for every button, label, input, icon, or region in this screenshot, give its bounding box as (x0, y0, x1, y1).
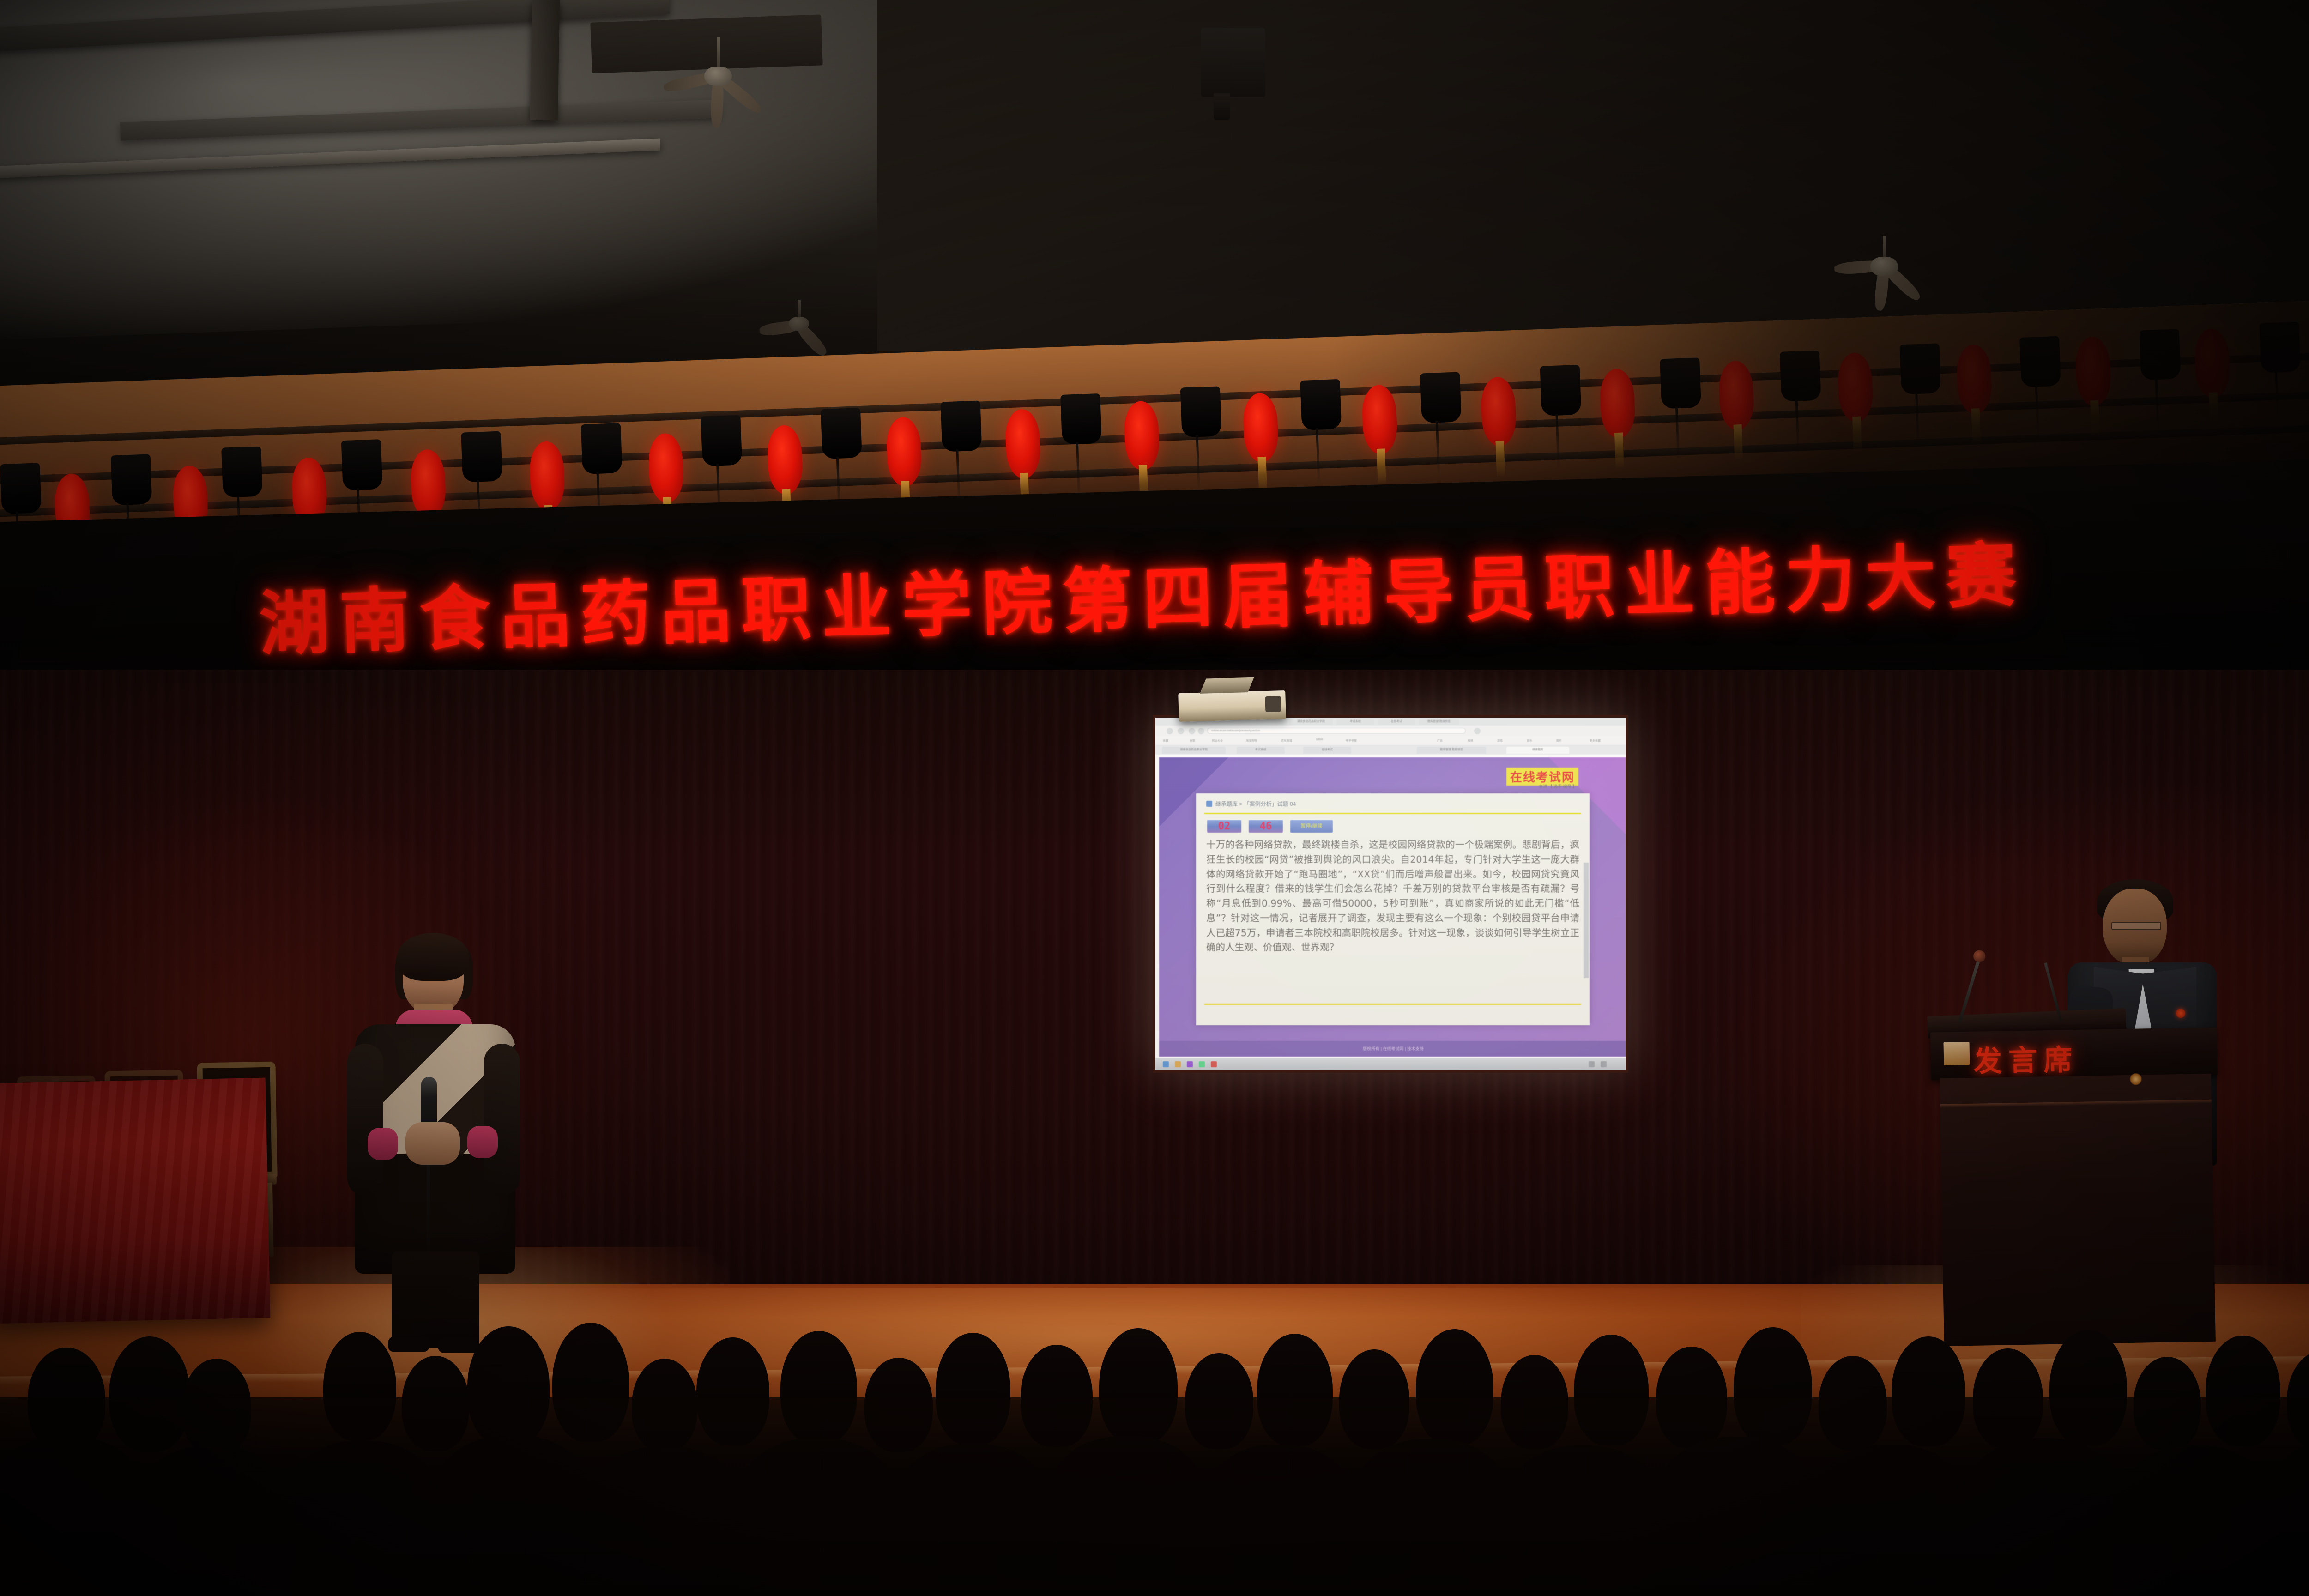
browser-tab[interactable]: 题库管理 题目预览 (1419, 719, 1459, 725)
browser-window: 湖南食品药品职业学院 考试系统 在线考试 题库管理 题目预览 online-ex… (1155, 718, 1626, 1070)
app-icon[interactable] (1211, 1061, 1217, 1067)
home-icon[interactable] (1198, 728, 1204, 734)
audience: ONIX ONIX (0, 1288, 2309, 1596)
page-tab[interactable]: 考试系统 (1237, 747, 1285, 754)
presenter-hands (405, 1122, 460, 1165)
slide-footer: 版权所有 | 在线考试网 | 技术支持 (1159, 1041, 1626, 1057)
breadcrumb: 继承题库 > 「案例分析」试题 04 (1206, 800, 1296, 808)
bookmark-item[interactable]: 淘宝购物 (1246, 738, 1257, 743)
glasses-icon (2111, 922, 2161, 930)
app-icon[interactable] (1199, 1061, 1205, 1067)
bookmark-item[interactable]: bilibili (1316, 738, 1323, 743)
ceiling-duct (590, 14, 823, 73)
bookmark-item[interactable]: 京东商城 (1281, 738, 1292, 743)
slide-footer-text: 版权所有 | 在线考试网 | 技术支持 (1159, 1041, 1626, 1057)
page-tab[interactable]: 在线考试 (1303, 747, 1351, 754)
bookmark-item[interactable]: 收藏 (1163, 738, 1168, 743)
timer-minutes: 02 (1207, 820, 1241, 833)
taskbar (1155, 1058, 1626, 1070)
countdown-timer: 0246暂停/继续 (1207, 820, 1333, 833)
question-text: 十万的各种网络贷款，最终跳楼自杀，这是校园网络贷款的一个极端案例。悲剧背后，疯狂… (1206, 838, 1579, 1001)
reload-icon[interactable] (1189, 728, 1195, 734)
podium-sign-text: 发言席 (1973, 1036, 2079, 1080)
bookmark-item[interactable]: 视频 (1468, 738, 1473, 743)
red-lantern (1242, 393, 1279, 463)
forward-icon[interactable] (1178, 728, 1184, 734)
bookmark-item[interactable]: 电子书屋 (1346, 738, 1357, 743)
red-lantern (1124, 400, 1160, 471)
tray-icon[interactable] (1589, 1061, 1595, 1067)
search-icon[interactable] (1474, 728, 1481, 734)
exam-slide: 在线考试网 主讲 【 选手 编号 】 继承题库 > 「案例分析」试题 04 02… (1159, 757, 1626, 1057)
bookmark-item[interactable]: 图片 (1556, 738, 1562, 743)
ceiling-beam-vertical (530, 0, 560, 121)
auditorium-scene: 湖南食品药品职业学院第四届辅导员职业能力大赛 湖南食品药品职业学院 考试系统 在… (0, 0, 2309, 1596)
scrollbar[interactable] (1584, 863, 1589, 978)
projector (1178, 690, 1286, 722)
page-tab-active[interactable]: 继承题库 (1506, 747, 1569, 754)
slide-content-panel: 在线考试网 主讲 【 选手 编号 】 继承题库 > 「案例分析」试题 04 02… (1196, 793, 1590, 1025)
judges-table (0, 1078, 270, 1324)
ceiling-speaker-box (1201, 28, 1265, 97)
bookmark-item[interactable]: 谷歌 (1190, 738, 1195, 743)
projector-lens (1265, 696, 1281, 712)
lapel-pin-icon (2176, 1009, 2185, 1018)
browser-tab[interactable]: 在线考试 (1378, 719, 1415, 725)
podium-emblem (1943, 1042, 1970, 1065)
projection-screen: 湖南食品药品职业学院 考试系统 在线考试 题库管理 题目预览 online-ex… (1153, 715, 1628, 1073)
bookmark-item[interactable]: 广告 (1437, 738, 1443, 743)
page-tab[interactable]: 题库管理 题目预览 (1417, 747, 1486, 754)
folder-icon (1206, 801, 1212, 807)
timer-seconds: 46 (1249, 820, 1283, 833)
red-lantern (410, 449, 447, 520)
browser-icon[interactable] (1187, 1061, 1193, 1067)
page-tab[interactable]: 湖南食品药品职业学院 (1162, 747, 1226, 754)
browser-tab[interactable]: 考试系统 (1336, 719, 1374, 725)
timer-pause-button[interactable]: 暂停/继续 (1290, 820, 1333, 833)
red-lantern (529, 441, 565, 512)
browser-tab[interactable]: 湖南食品药品职业学院 (1289, 719, 1333, 725)
podium-face: 发言席 (1930, 1028, 2218, 1081)
site-logo-subtitle: 主讲 【 选手 编号 】 (1539, 783, 1577, 789)
bookmark-item[interactable]: 音乐 (1527, 738, 1532, 743)
bookmark-item[interactable]: 网址大全 (1212, 738, 1223, 743)
bookmark-item[interactable]: 游戏 (1497, 738, 1503, 743)
projector-mount-arm (1200, 677, 1254, 694)
start-icon[interactable] (1163, 1061, 1169, 1067)
back-icon[interactable] (1167, 728, 1173, 734)
bookmarks-more[interactable]: 更多收藏 (1590, 738, 1601, 743)
address-bar[interactable]: online-exam.net/exam/preview/question (1207, 728, 1466, 734)
red-lantern (1004, 409, 1041, 479)
ceiling-dark-area (877, 0, 2309, 351)
breadcrumb-text: 继承题库 > 「案例分析」试题 04 (1215, 801, 1296, 807)
divider-bottom (1204, 1004, 1581, 1005)
divider-top (1204, 813, 1581, 814)
explorer-icon[interactable] (1175, 1061, 1181, 1067)
clock-icon (1601, 1061, 1607, 1067)
